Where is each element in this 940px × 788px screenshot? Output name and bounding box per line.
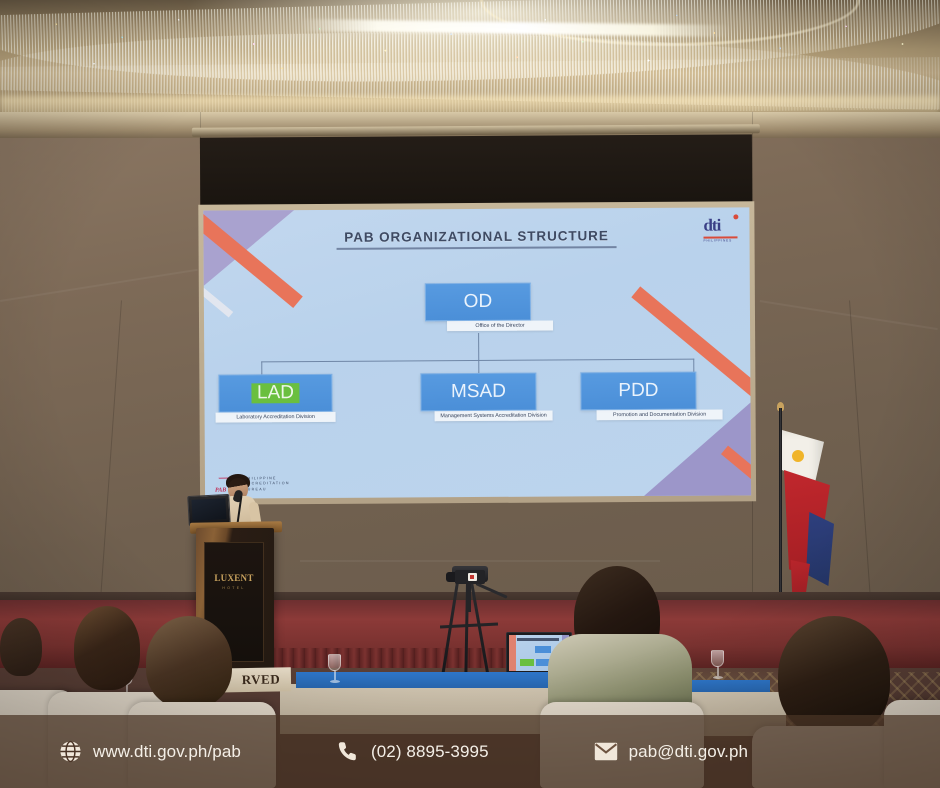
laptop-slide-box-lad	[520, 659, 534, 666]
contact-footer-bar: www.dti.gov.ph/pab (02) 8895-3995 pab@dt…	[0, 715, 940, 788]
globe-icon	[58, 740, 82, 764]
org-node-pdd-caption: Promotion and Documentation Division	[597, 410, 723, 421]
wine-glass-foot	[330, 680, 340, 683]
envelope-icon	[594, 740, 618, 764]
podium-brand-subtitle: HOTEL	[205, 586, 263, 590]
org-node-msad-caption: Management Systems Accreditation Divisio…	[435, 411, 553, 422]
org-node-lad: LAD Laboratory Accreditation Division	[218, 374, 335, 423]
dti-logo-subtitle: PHILIPPINES	[704, 239, 740, 242]
audience-head	[74, 606, 140, 690]
pab-logo-line3: BUREAU	[244, 487, 290, 493]
slide-title-underline	[337, 246, 617, 249]
org-node-pdd: PDD Promotion and Documentation Division	[580, 372, 722, 421]
footer-email-label: pab@dti.gov.ph	[629, 742, 748, 762]
wine-glass	[711, 650, 724, 680]
audience-head	[146, 616, 232, 708]
conference-photo: PAB ORGANIZATIONAL STRUCTURE dti PHILIPP…	[0, 0, 940, 788]
dti-logo: dti PHILIPPINES	[703, 215, 739, 241]
dti-wordmark: dti	[703, 216, 720, 235]
chandelier-sparkles	[0, 0, 940, 110]
podium-brand-name: LUXENT	[205, 573, 263, 583]
screen-surface: PAB ORGANIZATIONAL STRUCTURE dti PHILIPP…	[198, 201, 756, 504]
footer-website[interactable]: www.dti.gov.ph/pab	[58, 740, 241, 764]
org-node-msad-box: MSAD	[420, 373, 536, 412]
org-node-od-caption: Office of the Director	[447, 321, 553, 332]
org-node-od-box: OD	[425, 283, 531, 322]
presentation-slide: PAB ORGANIZATIONAL STRUCTURE dti PHILIPP…	[203, 207, 751, 498]
slide-title: PAB ORGANIZATIONAL STRUCTURE	[203, 227, 749, 245]
footer-phone-label: (02) 8895-3995	[371, 742, 489, 762]
footer-website-label: www.dti.gov.ph/pab	[93, 742, 241, 762]
audience-head	[0, 618, 42, 676]
pab-logo-line2: ACCREDITATION	[244, 481, 290, 487]
org-node-msad: MSAD Management Systems Accreditation Di…	[420, 373, 552, 422]
org-node-lad-label: LAD	[251, 383, 300, 403]
wine-glass-foot	[713, 676, 723, 679]
org-node-od: OD Office of the Director	[425, 283, 553, 332]
laptop-slide-decor-left	[509, 635, 516, 671]
org-connector-vertical	[478, 333, 479, 361]
philippine-flag-sun	[792, 450, 804, 462]
org-node-lad-box: LAD	[218, 374, 332, 413]
camera-record-dot-icon	[470, 575, 474, 579]
reserved-sign-text: RVED	[242, 671, 281, 688]
laptop-slide-title-bar	[517, 638, 559, 641]
wine-glass	[328, 654, 341, 684]
podium-laptop-screen	[191, 498, 226, 521]
org-node-pdd-box: PDD	[580, 372, 696, 411]
screen-black-mask	[200, 134, 752, 211]
tripod-center-column	[466, 582, 471, 612]
wall-bevel	[300, 560, 660, 562]
dti-logo-dot	[733, 214, 738, 219]
wine-glass-bowl	[328, 654, 341, 671]
phone-icon	[336, 740, 360, 764]
org-node-lad-caption: Laboratory Accreditation Division	[216, 412, 336, 423]
laptop-slide-box-od	[535, 646, 551, 653]
wine-glass-stem	[717, 667, 719, 676]
wine-glass-bowl	[711, 650, 724, 667]
projection-screen: PAB ORGANIZATIONAL STRUCTURE dti PHILIPP…	[196, 131, 758, 506]
footer-email[interactable]: pab@dti.gov.ph	[594, 740, 748, 764]
footer-phone[interactable]: (02) 8895-3995	[336, 740, 489, 764]
slide-decor-top-left-purple	[203, 207, 301, 290]
wine-glass-stem	[334, 671, 336, 680]
pab-logo-abbrev: PAB	[215, 487, 226, 493]
